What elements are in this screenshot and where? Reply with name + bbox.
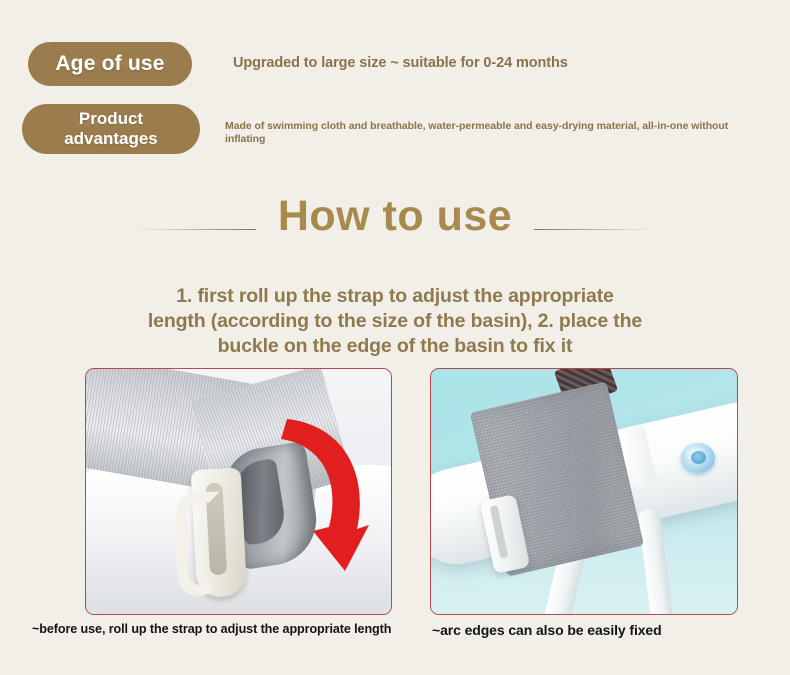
heading-rule-right-decoration (534, 229, 654, 230)
usage-instructions: 1. first roll up the strap to adjust the… (0, 284, 790, 359)
badge-label-line2: advantages (64, 129, 158, 148)
feature-row-product-advantages: ········ ····· Product advantages Made o… (22, 104, 770, 154)
instruction-line: length (according to the size of the bas… (0, 309, 790, 334)
blue-knob-center-shape (691, 451, 706, 464)
instruction-line: 1. first roll up the strap to adjust the… (0, 284, 790, 309)
white-buckle-shape (175, 467, 254, 601)
badge-product-advantages: ········ ····· Product advantages (22, 104, 200, 154)
badge-label: Age of use (55, 52, 164, 76)
red-curved-arrow-icon (273, 403, 377, 579)
feature-row-age-of-use: ·········· Age of use Upgraded to large … (28, 42, 568, 86)
feature-description-age-of-use: Upgraded to large size ~ suitable for 0-… (233, 55, 568, 71)
section-heading: How to use (0, 190, 790, 242)
instruction-line: buckle on the edge of the basin to fix i… (0, 334, 790, 359)
feature-description-product-advantages: Made of swimming cloth and breathable, w… (225, 120, 770, 146)
badge-label: Product advantages (64, 109, 158, 149)
page-title: How to use (278, 190, 512, 242)
photo-caption-right: ~arc edges can also be easily fixed (432, 622, 662, 638)
photo-row (0, 368, 790, 615)
photo-caption-left: ~before use, roll up the strap to adjust… (32, 622, 391, 636)
heading-rule-left-decoration (136, 229, 256, 230)
strap-buckle-photo (85, 368, 392, 615)
badge-label-line1: Product (79, 109, 143, 128)
buckle-hook-shape (176, 491, 222, 596)
strap-on-basin-rim-photo (430, 368, 738, 615)
badge-age-of-use: ·········· Age of use (28, 42, 192, 86)
